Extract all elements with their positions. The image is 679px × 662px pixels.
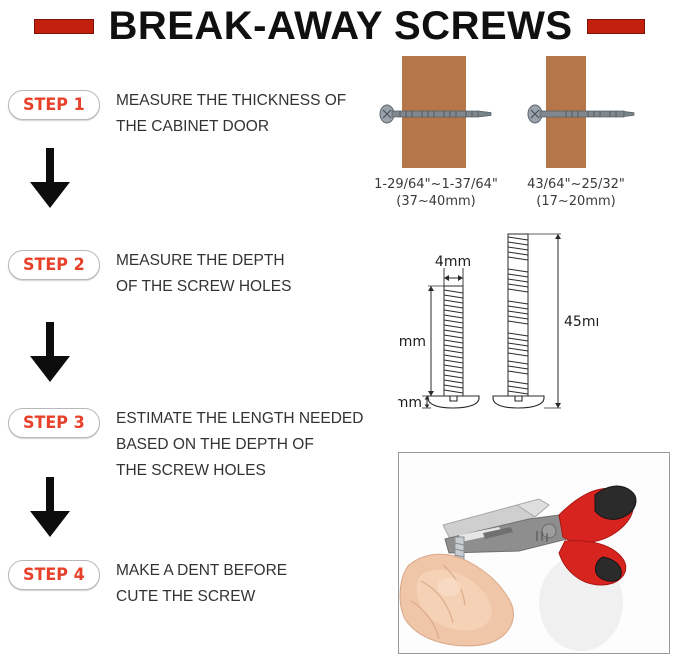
door-thickness-caption-2: 43/64"~25/32" (17~20mm) — [496, 176, 656, 210]
step-badge-4: STEP 4 — [8, 560, 100, 590]
title-dash-left-icon — [34, 19, 94, 34]
step-3-line-1: ESTIMATE THE LENGTH NEEDED — [116, 406, 363, 432]
step-2-text: MEASURE THE DEPTH OF THE SCREW HOLES — [116, 248, 291, 300]
step-1-text: MEASURE THE THICKNESS OF THE CABINET DOO… — [116, 88, 346, 140]
step-badge-1-label: STEP 1 — [23, 95, 85, 115]
arrow-down-3-icon — [27, 477, 73, 539]
door-thickness-metric-1: (37~40mm) — [356, 193, 516, 210]
screw-length-label: 28mm — [398, 334, 426, 350]
door-thickness-imperial-1: 1-29/64"~1-37/64" — [356, 176, 516, 193]
screw-diameter-label: 4mm — [435, 254, 471, 270]
arrow-down-1-icon — [27, 148, 73, 210]
screw-through-thick-door-icon — [378, 104, 498, 124]
step-badge-4-label: STEP 4 — [23, 565, 85, 585]
screw-through-thin-door-icon — [526, 104, 638, 124]
step-4-text: MAKE A DENT BEFORE CUTE THE SCREW — [116, 558, 287, 610]
step-badge-2-label: STEP 2 — [23, 255, 85, 275]
step-3-line-3: THE SCREW HOLES — [116, 458, 363, 484]
long-screw-length-label: 45mm — [564, 314, 598, 330]
step-4-line-2: CUTE THE SCREW — [116, 584, 287, 610]
arrow-down-2-icon — [27, 322, 73, 384]
step-badge-2: STEP 2 — [8, 250, 100, 280]
step-badge-3: STEP 3 — [8, 408, 100, 438]
cabinet-door-illustration: 1-29/64"~1-37/64" (37~40mm) 43/64"~25/32… — [378, 56, 676, 222]
pliers-photo-illustration — [399, 453, 670, 654]
page-title-bar: BREAK-AWAY SCREWS — [0, 0, 679, 52]
step-3-text: ESTIMATE THE LENGTH NEEDED BASED ON THE … — [116, 406, 363, 484]
page-title: BREAK-AWAY SCREWS — [108, 6, 572, 46]
step-1-line-2: THE CABINET DOOR — [116, 114, 346, 140]
step-1-line-1: MEASURE THE THICKNESS OF — [116, 88, 346, 114]
door-thickness-imperial-2: 43/64"~25/32" — [496, 176, 656, 193]
step-3-line-2: BASED ON THE DEPTH OF — [116, 432, 363, 458]
step-4-line-1: MAKE A DENT BEFORE — [116, 558, 287, 584]
door-thickness-caption-1: 1-29/64"~1-37/64" (37~40mm) — [356, 176, 516, 210]
door-thickness-metric-2: (17~20mm) — [496, 193, 656, 210]
step-2-line-1: MEASURE THE DEPTH — [116, 248, 291, 274]
screw-head-height-label: 2.2mm — [398, 395, 422, 411]
step-2-line-2: OF THE SCREW HOLES — [116, 274, 291, 300]
screw-dimension-diagram: 4mm 28mm 2.2mm — [398, 228, 598, 433]
step-badge-3-label: STEP 3 — [23, 413, 85, 433]
title-dash-right-icon — [587, 19, 645, 34]
step-badge-1: STEP 1 — [8, 90, 100, 120]
pliers-cutting-screw-photo — [398, 452, 670, 654]
